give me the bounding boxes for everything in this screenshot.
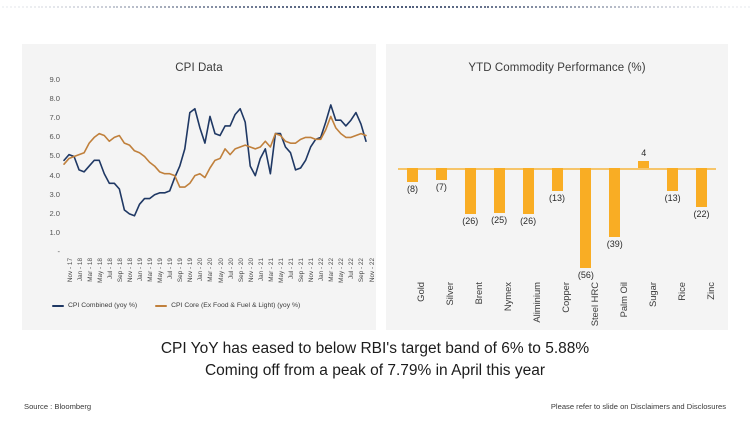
rule-dot [349,6,351,8]
rule-dot [460,6,462,8]
bar-category-label: Steel HRC [590,282,600,326]
bar-category-label: Rice [677,282,687,301]
line-chart-legend: CPI Combined (yoy %)CPI Core (Ex Food & … [52,302,372,309]
rule-dot [428,6,430,8]
rule-dot [286,6,288,8]
rule-dot [712,6,714,8]
rule-dot [645,6,647,8]
rule-dot [476,6,478,8]
x-axis-tick: Nov - 18 [127,258,134,282]
rule-dot [637,6,639,8]
bar-value-label: (13) [537,193,577,203]
rule-dot [144,6,146,8]
rule-dot [180,6,182,8]
rule-dot [724,6,726,8]
bar-value-label: (26) [508,216,548,226]
rule-dot [116,6,118,8]
rule-dot [484,6,486,8]
rule-dot [334,6,336,8]
rule-dot [188,6,190,8]
rule-dot [401,6,403,8]
rule-dot [302,6,304,8]
rule-dot [685,6,687,8]
rule-dot [720,6,722,8]
rule-dot [693,6,695,8]
rule-dot [393,6,395,8]
rule-dot [709,6,711,8]
rule-dot [602,6,604,8]
rule-dot [677,6,679,8]
rule-dot [432,6,434,8]
rule-dot [523,6,525,8]
rule-dot [294,6,296,8]
x-axis-tick: Jan - 18 [77,258,84,281]
rule-dot [113,6,115,8]
y-axis-tick: 4.0 [30,172,60,180]
rule-dot [559,6,561,8]
rule-dot [38,6,40,8]
rule-dot [440,6,442,8]
rule-dot [590,6,592,8]
rule-dot [172,6,174,8]
rule-dot [14,6,16,8]
rule-dot [263,6,265,8]
rule-dot [278,6,280,8]
legend-item-1[interactable]: CPI Combined (yoy %) [52,302,137,309]
bar-nymex[interactable] [494,168,505,213]
decorative-dotted-rule [0,6,750,10]
rule-dot [416,6,418,8]
rule-dot [543,6,545,8]
x-axis-tick: Nov - 22 [369,258,376,282]
bar-category-label: Copper [561,282,571,313]
x-axis-tick: Mar - 19 [147,258,154,282]
rule-dot [436,6,438,8]
rule-dot [2,6,4,8]
legend-swatch-icon [52,305,64,307]
x-axis-tick: Jul - 22 [348,258,355,279]
rule-dot [6,6,8,8]
rule-dot [381,6,383,8]
rule-dot [282,6,284,8]
rule-dot [140,6,142,8]
rule-dot [85,6,87,8]
bar-category-label: Aliminium [532,282,542,323]
rule-dot [468,6,470,8]
rule-dot [306,6,308,8]
rule-dot [318,6,320,8]
bar-zinc[interactable] [696,168,707,207]
commodity-performance-panel: YTD Commodity Performance (%) (8)(7)(26)… [386,44,728,330]
bar-copper[interactable] [552,168,563,191]
rule-dot [353,6,355,8]
rule-dot [73,6,75,8]
x-axis-tick: Jul - 21 [288,258,295,279]
y-axis-tick: 8.0 [30,95,60,103]
rule-dot [152,6,154,8]
rule-dot [314,6,316,8]
rule-dot [77,6,79,8]
rule-dot [255,6,257,8]
cpi-data-panel: CPI Data 9.08.07.06.05.04.03.02.01.0- No… [22,44,376,330]
rule-dot [266,6,268,8]
bar-steel-hrc[interactable] [580,168,591,268]
bar-category-label: Palm Oil [619,282,629,317]
rule-dot [649,6,651,8]
bar-sugar[interactable] [638,161,649,168]
rule-dot [586,6,588,8]
rule-dot [326,6,328,8]
rule-dot [689,6,691,8]
x-axis-tick: Jul - 19 [167,258,174,279]
x-axis-tick: Sep - 18 [117,258,124,282]
rule-dot [105,6,107,8]
rule-dot [10,6,12,8]
charts-row: CPI Data 9.08.07.06.05.04.03.02.01.0- No… [0,44,750,330]
rule-dot [239,6,241,8]
rule-dot [164,6,166,8]
bar-category-label: Gold [416,282,426,302]
rule-dot [452,6,454,8]
rule-dot [89,6,91,8]
x-axis-tick: May - 21 [278,258,285,283]
x-axis-tick: Jan - 21 [258,258,265,281]
rule-dot [57,6,59,8]
bar-rice[interactable] [667,168,678,191]
rule-dot [26,6,28,8]
x-axis-tick: Sep - 20 [238,258,245,282]
rule-dot [673,6,675,8]
x-axis-tick: Sep - 19 [177,258,184,282]
rule-dot [614,6,616,8]
rule-dot [555,6,557,8]
x-axis-tick: Jan - 20 [197,258,204,281]
bar-silver[interactable] [436,168,447,180]
caption: CPI YoY has eased to below RBI's target … [0,338,750,382]
x-axis-tick: Mar - 21 [268,258,275,282]
bar-gold[interactable] [407,168,418,182]
y-axis-tick: 5.0 [30,152,60,160]
rule-dot [578,6,580,8]
rule-dot [30,6,32,8]
x-axis-tick: May - 20 [218,258,225,283]
rule-dot [338,6,340,8]
rule-dot [310,6,312,8]
rule-dot [701,6,703,8]
x-axis-tick: Nov - 21 [308,258,315,282]
rule-dot [728,6,730,8]
rule-dot [207,6,209,8]
y-axis-tick: 7.0 [30,114,60,122]
x-axis-tick: Jan - 22 [318,258,325,281]
disclaimer-note: Please refer to slide on Disclaimers and… [551,402,726,411]
rule-dot [109,6,111,8]
rule-dot [480,6,482,8]
bar-value-label: (22) [682,209,722,219]
y-axis-tick: 2.0 [30,210,60,218]
rule-dot [243,6,245,8]
rule-dot [594,6,596,8]
line-chart-y-axis: 9.08.07.06.05.04.03.02.01.0- [30,80,60,252]
rule-dot [322,6,324,8]
rule-dot [515,6,517,8]
rule-dot [168,6,170,8]
rule-dot [341,6,343,8]
rule-dot [744,6,746,8]
rule-dot [176,6,178,8]
y-axis-tick: 9.0 [30,76,60,84]
bar-chart-title: YTD Commodity Performance (%) [386,62,728,74]
legend-swatch-icon [155,305,167,307]
rule-dot [697,6,699,8]
x-axis-tick: Nov - 20 [248,258,255,282]
x-axis-tick: Nov - 17 [67,258,74,282]
rule-dot [219,6,221,8]
rule-dot [156,6,158,8]
rule-dot [124,6,126,8]
rule-dot [22,6,24,8]
rule-dot [330,6,332,8]
bar-palm-oil[interactable] [609,168,620,237]
rule-dot [626,6,628,8]
rule-dot [622,6,624,8]
rule-dot [97,6,99,8]
rule-dot [610,6,612,8]
rule-dot [618,6,620,8]
rule-dot [657,6,659,8]
x-axis-tick: May - 22 [338,258,345,283]
rule-dot [259,6,261,8]
x-axis-tick: Sep - 22 [358,258,365,282]
rule-dot [18,6,20,8]
line-chart-x-axis: Nov - 17Jan - 18Mar - 18May - 18Jul - 18… [62,258,368,308]
rule-dot [409,6,411,8]
rule-dot [132,6,134,8]
rule-dot [547,6,549,8]
rule-dot [681,6,683,8]
caption-line-2: Coming off from a peak of 7.79% in April… [0,360,750,382]
rule-dot [251,6,253,8]
rule-dot [535,6,537,8]
rule-dot [397,6,399,8]
x-axis-tick: Jul - 18 [107,258,114,279]
bar-brent[interactable] [465,168,476,214]
rule-dot [377,6,379,8]
bar-category-label: Brent [474,282,484,304]
rule-dot [365,6,367,8]
x-axis-tick: Jan - 19 [137,258,144,281]
line-chart: CPI Data 9.08.07.06.05.04.03.02.01.0- No… [22,44,376,330]
rule-dot [705,6,707,8]
rule-dot [472,6,474,8]
rule-dot [369,6,371,8]
rule-dot [385,6,387,8]
rule-dot [582,6,584,8]
bar-aliminium[interactable] [523,168,534,214]
rule-dot [81,6,83,8]
rule-dot [373,6,375,8]
rule-dot [69,6,71,8]
rule-dot [184,6,186,8]
rule-dot [93,6,95,8]
rule-dot [41,6,43,8]
rule-dot [120,6,122,8]
bar-value-label: (7) [421,182,461,192]
rule-dot [511,6,513,8]
x-axis-tick: Mar - 20 [207,258,214,282]
bar-chart-plot-area: (8)(7)(26)(25)(26)(13)(56)(39)4(13)(22) [398,88,716,278]
rule-dot [45,6,47,8]
bar-value-label: (56) [566,270,606,280]
rule-dot [531,6,533,8]
line-chart-svg [62,80,368,256]
rule-dot [574,6,576,8]
bar-category-label: Sugar [648,282,658,307]
x-axis-tick: May - 18 [97,258,104,283]
bar-value-label: 4 [624,148,664,158]
series-line-2 [64,116,366,187]
rule-dot [630,6,632,8]
rule-dot [405,6,407,8]
bar-category-label: Nymex [503,282,513,311]
rule-dot [34,6,36,8]
rule-dot [361,6,363,8]
rule-dot [570,6,572,8]
y-axis-tick: 3.0 [30,191,60,199]
rule-dot [420,6,422,8]
rule-dot [444,6,446,8]
x-axis-tick: Mar - 22 [328,258,335,282]
rule-dot [736,6,738,8]
rule-dot [49,6,51,8]
rule-dot [491,6,493,8]
rule-dot [539,6,541,8]
x-axis-tick: Mar - 18 [87,258,94,282]
rule-dot [128,6,130,8]
rule-dot [53,6,55,8]
rule-dot [345,6,347,8]
rule-dot [562,6,564,8]
rule-dot [503,6,505,8]
rule-dot [551,6,553,8]
rule-dot [65,6,67,8]
rule-dot [101,6,103,8]
rule-dot [669,6,671,8]
rule-dot [566,6,568,8]
rule-dot [464,6,466,8]
rule-dot [634,6,636,8]
caption-line-1: CPI YoY has eased to below RBI's target … [0,338,750,360]
rule-dot [290,6,292,8]
rule-dot [527,6,529,8]
rule-dot [519,6,521,8]
rule-dot [235,6,237,8]
bar-value-label: (39) [595,239,635,249]
rule-dot [270,6,272,8]
y-axis-tick: 1.0 [30,229,60,237]
rule-dot [665,6,667,8]
rule-dot [716,6,718,8]
line-chart-plot-area [62,80,368,256]
rule-dot [661,6,663,8]
x-axis-tick: Nov - 19 [187,258,194,282]
rule-dot [199,6,201,8]
bar-value-label: (13) [653,193,693,203]
rule-dot [448,6,450,8]
rule-dot [160,6,162,8]
rule-dot [195,6,197,8]
rule-dot [456,6,458,8]
rule-dot [357,6,359,8]
rule-dot [412,6,414,8]
x-axis-tick: Jul - 20 [228,258,235,279]
rule-dot [495,6,497,8]
rule-dot [598,6,600,8]
rule-dot [732,6,734,8]
rule-dot [389,6,391,8]
line-chart-title: CPI Data [22,62,376,74]
rule-dot [274,6,276,8]
rule-dot [211,6,213,8]
x-axis-tick: Sep - 21 [298,258,305,282]
rule-dot [61,6,63,8]
rule-dot [606,6,608,8]
rule-dot [247,6,249,8]
rule-dot [499,6,501,8]
x-axis-tick: May - 19 [157,258,164,283]
rule-dot [203,6,205,8]
source-note: Source : Bloomberg [24,402,91,411]
rule-dot [740,6,742,8]
rule-dot [136,6,138,8]
rule-dot [424,6,426,8]
bar-chart: YTD Commodity Performance (%) (8)(7)(26)… [386,44,728,330]
rule-dot [298,6,300,8]
rule-dot [191,6,193,8]
rule-dot [227,6,229,8]
legend-label: CPI Core (Ex Food & Fuel & Light) (yoy %… [171,302,300,309]
rule-dot [653,6,655,8]
bar-category-label: Zinc [706,282,716,300]
rule-dot [231,6,233,8]
y-axis-tick: - [30,248,60,256]
legend-label: CPI Combined (yoy %) [68,302,137,309]
rule-dot [641,6,643,8]
rule-dot [215,6,217,8]
y-axis-tick: 6.0 [30,133,60,141]
rule-dot [487,6,489,8]
legend-item-2[interactable]: CPI Core (Ex Food & Fuel & Light) (yoy %… [155,302,300,309]
rule-dot [223,6,225,8]
footer: Source : Bloomberg Please refer to slide… [0,402,750,411]
bar-category-label: Silver [445,282,455,305]
rule-dot [507,6,509,8]
rule-dot [148,6,150,8]
